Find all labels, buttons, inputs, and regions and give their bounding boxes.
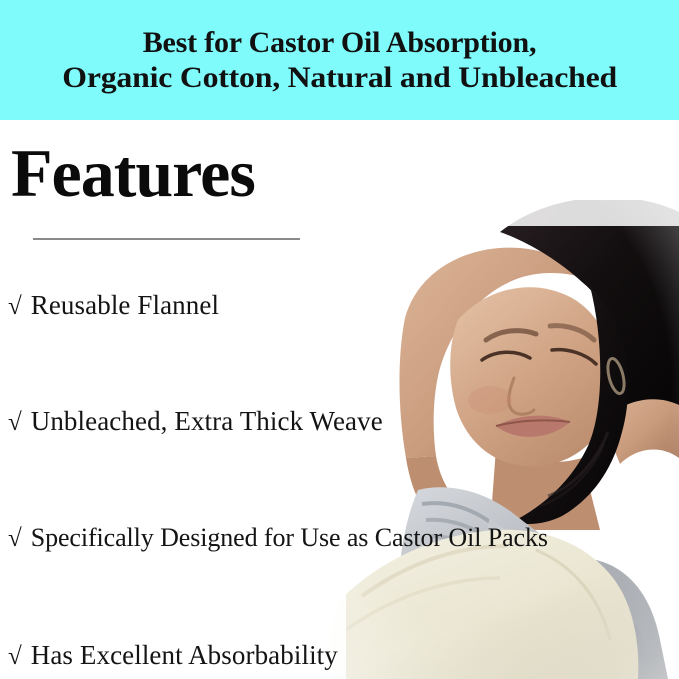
checkmark-icon: √ (8, 410, 22, 435)
title-divider (33, 238, 300, 240)
list-item: √ Reusable Flannel (8, 292, 219, 319)
feature-label: Reusable Flannel (31, 292, 219, 319)
feature-label: Unbleached, Extra Thick Weave (31, 408, 383, 435)
checkmark-icon: √ (8, 294, 22, 319)
page-title: Features (11, 139, 255, 207)
banner-headline-line-1: Best for Castor Oil Absorption, (143, 25, 537, 60)
product-feature-card: Best for Castor Oil Absorption, Organic … (0, 0, 679, 679)
header-banner: Best for Castor Oil Absorption, Organic … (0, 0, 679, 120)
feature-label: Has Excellent Absorbability (31, 642, 338, 669)
feature-label: Specifically Designed for Use as Castor … (31, 525, 548, 551)
list-item: √ Specifically Designed for Use as Casto… (8, 525, 548, 551)
checkmark-icon: √ (8, 644, 22, 669)
lifestyle-photo (300, 200, 679, 679)
list-item: √ Unbleached, Extra Thick Weave (8, 408, 383, 435)
banner-headline-line-2: Organic Cotton, Natural and Unbleached (62, 60, 617, 95)
checkmark-icon: √ (8, 526, 22, 551)
list-item: √ Has Excellent Absorbability (8, 642, 338, 669)
